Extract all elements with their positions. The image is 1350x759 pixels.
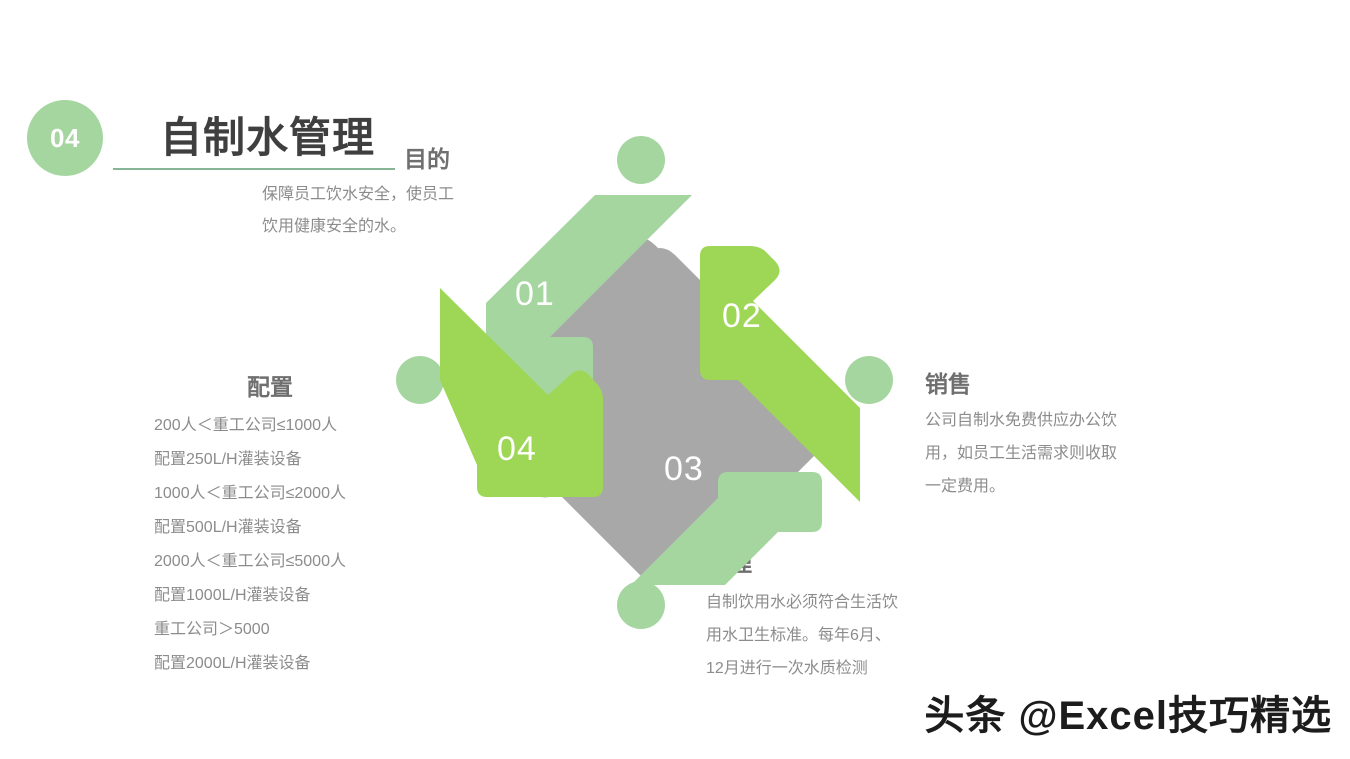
section-title-sales: 销售	[925, 365, 971, 399]
section-body-management-line-3: 12月进行一次水质检测	[706, 652, 868, 686]
cycle-diagram: 01 02 03 04	[440, 195, 860, 585]
slide-number-badge: 04	[27, 100, 103, 176]
section-title-configuration: 配置	[247, 368, 293, 402]
decorative-dot-top	[617, 136, 665, 184]
section-body-configuration-line-4: 配置500L/H灌装设备	[154, 511, 302, 545]
arrow-01-number: 01	[515, 275, 555, 313]
section-body-configuration-line-7: 重工公司＞5000	[154, 613, 270, 647]
arrow-04-number: 04	[497, 430, 537, 468]
section-body-management-line-2: 用水卫生标准。每年6月、	[706, 619, 891, 653]
section-body-configuration-line-3: 1000人＜重工公司≤2000人	[154, 477, 346, 511]
section-body-configuration-line-1: 200人＜重工公司≤1000人	[154, 409, 337, 443]
section-title-purpose: 目的	[404, 140, 450, 174]
decorative-dot-left	[396, 356, 444, 404]
decorative-dot-bottom	[617, 581, 665, 629]
arrow-03-number: 03	[664, 450, 704, 488]
section-body-purpose-line-2: 饮用健康安全的水。	[262, 210, 406, 244]
title-underline	[113, 168, 395, 170]
section-body-configuration-line-6: 配置1000L/H灌装设备	[154, 579, 311, 613]
slide-number-label: 04	[50, 125, 80, 151]
section-body-management-line-1: 自制饮用水必须符合生活饮	[706, 586, 898, 620]
arrow-02-number: 02	[722, 297, 762, 335]
section-body-sales-line-1: 公司自制水免费供应办公饮	[925, 404, 1117, 438]
section-body-sales-line-2: 用，如员工生活需求则收取	[925, 437, 1117, 471]
section-body-configuration-line-5: 2000人＜重工公司≤5000人	[154, 545, 346, 579]
section-body-sales-line-3: 一定费用。	[925, 470, 1005, 504]
section-body-configuration-line-8: 配置2000L/H灌装设备	[154, 647, 311, 681]
slide-canvas: 04 自制水管理 目的 保障员工饮水安全，使员工 饮用健康安全的水。 配置 20…	[0, 0, 1350, 759]
section-body-purpose-line-1: 保障员工饮水安全，使员工	[262, 178, 454, 212]
watermark-text: 头条 @Excel技巧精选	[924, 683, 1332, 741]
section-body-configuration-line-2: 配置250L/H灌装设备	[154, 443, 302, 477]
page-title: 自制水管理	[160, 104, 375, 165]
